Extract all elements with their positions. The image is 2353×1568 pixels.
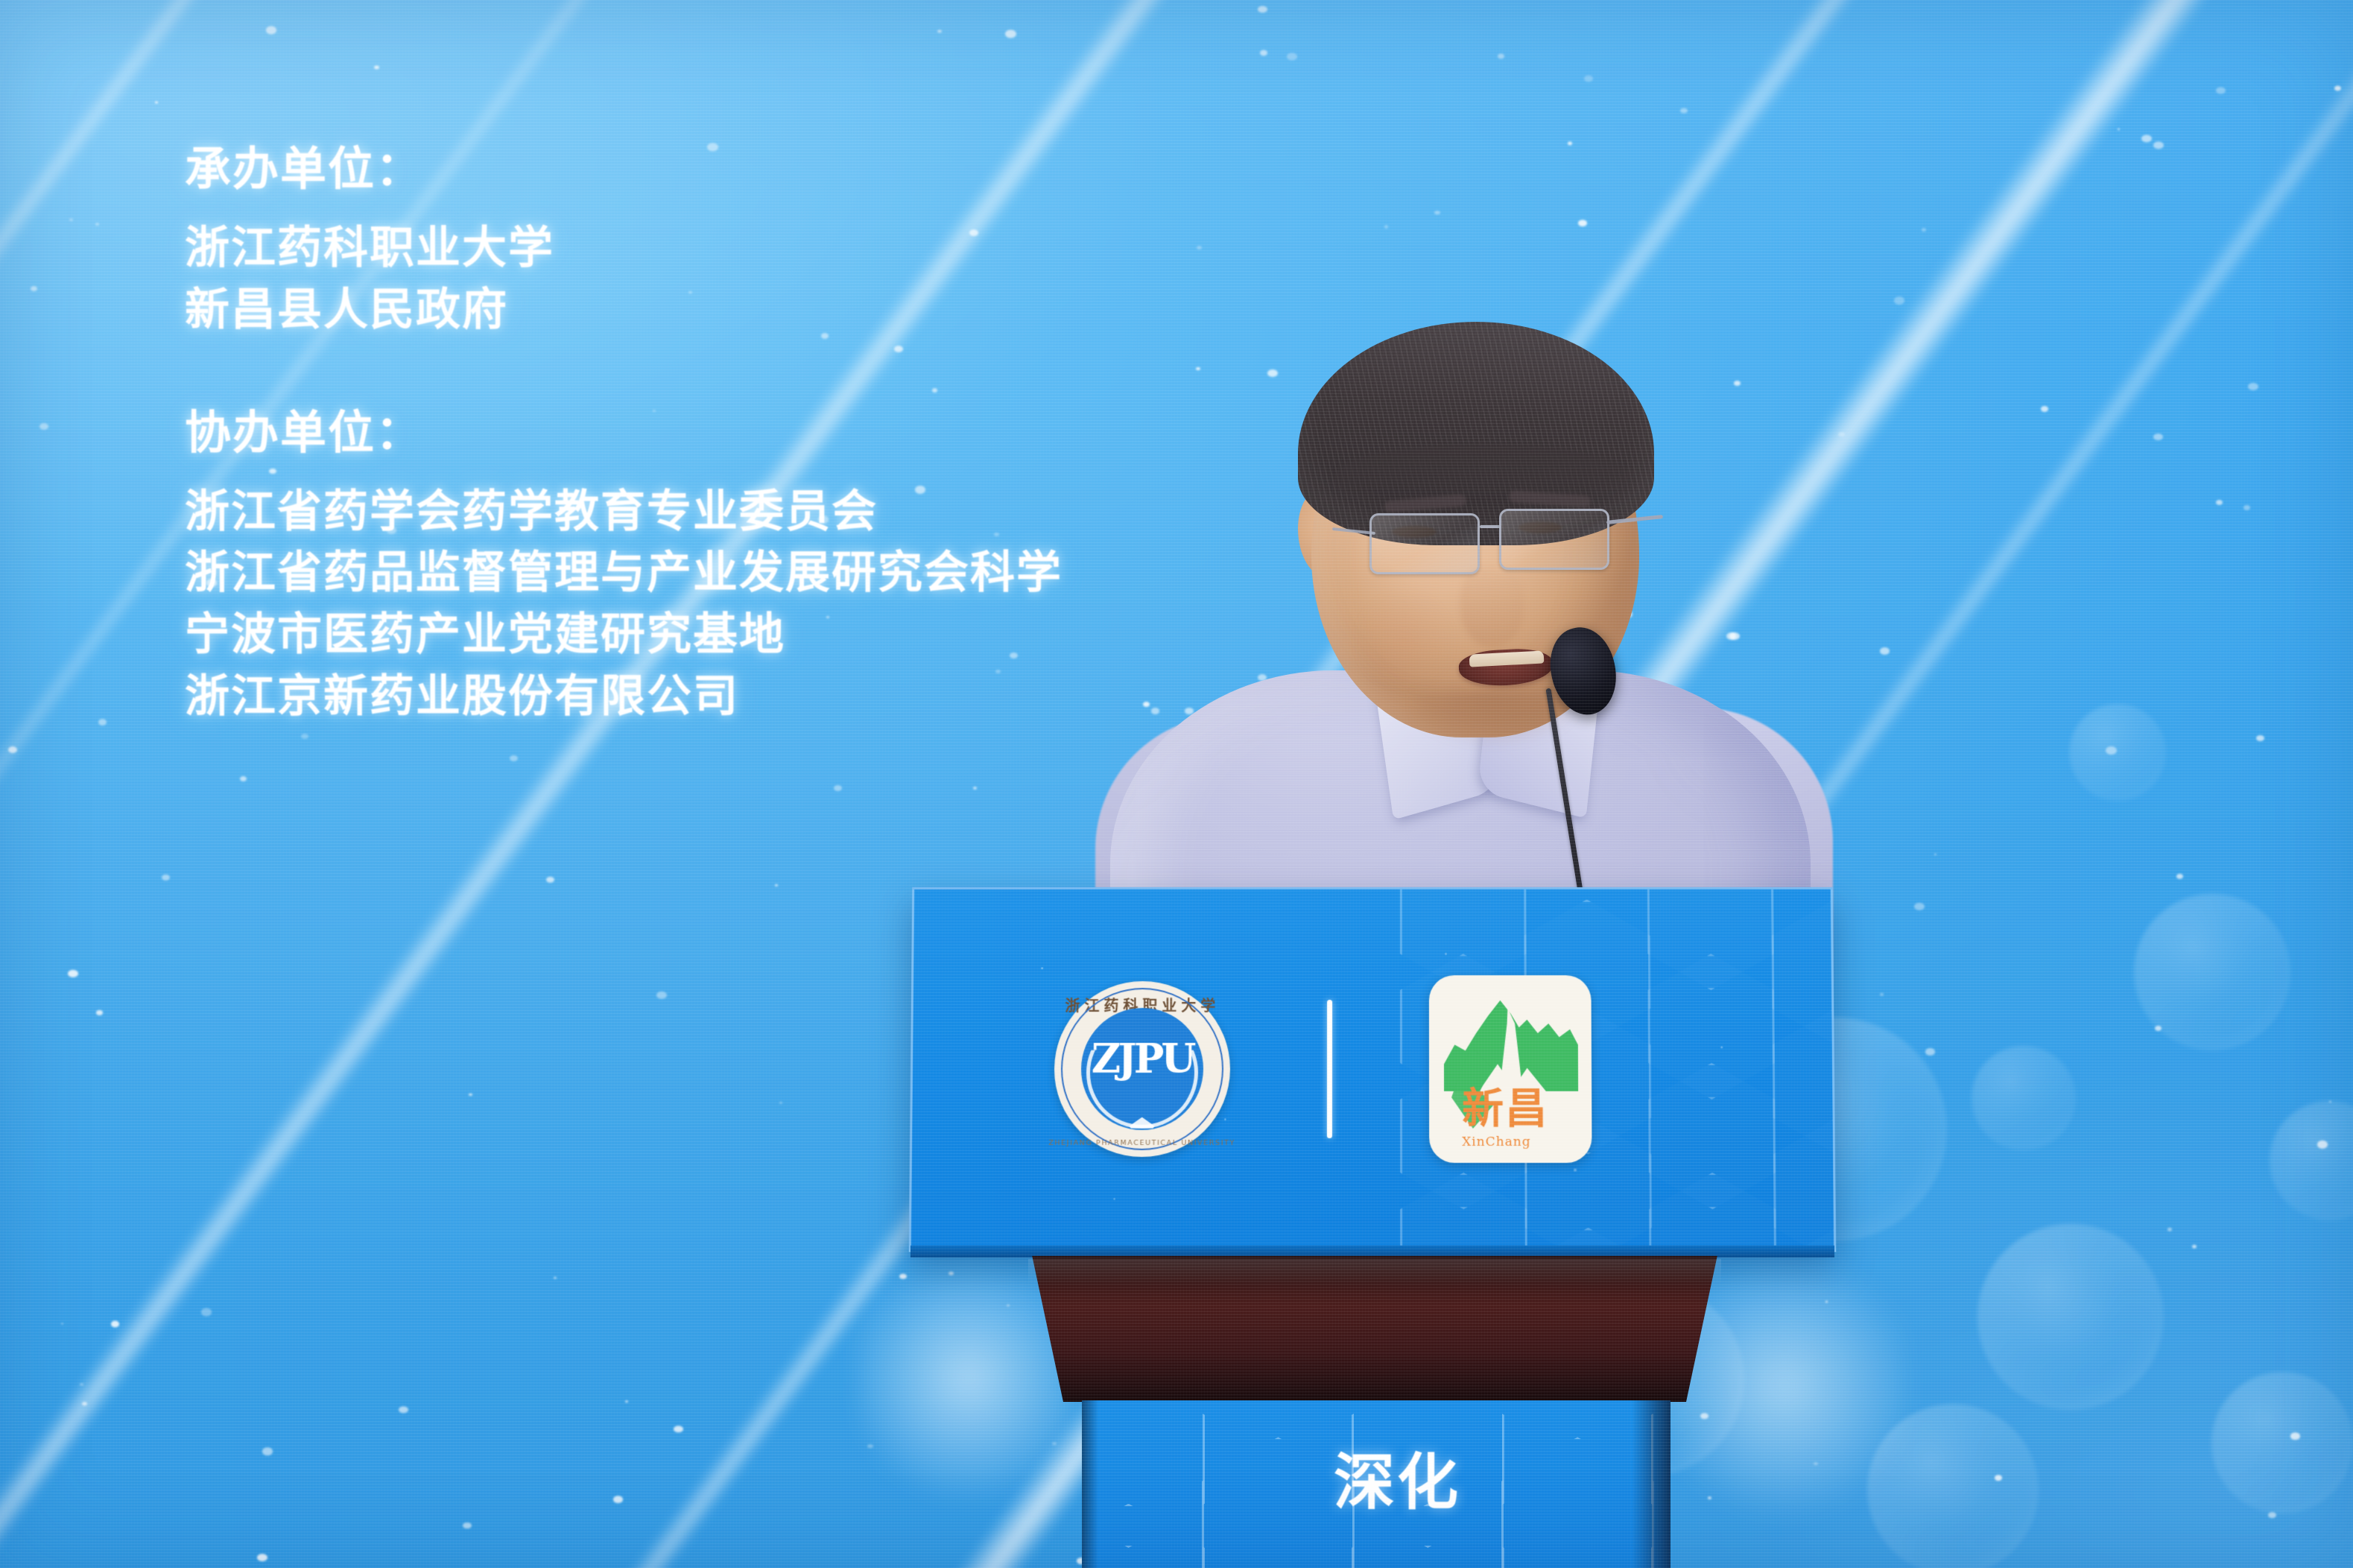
hexagon-cell-lower [1501, 1437, 1654, 1568]
lectern-shadow-right [1632, 1400, 1670, 1568]
logo-divider [1327, 1000, 1332, 1138]
xinchang-county-logo: 新昌 XinChang [1429, 975, 1592, 1163]
lectern: 浙江药科职业大学 ZJPU ZHEJIANG PHARMACEUTICAL UN… [0, 0, 2353, 1568]
hexagon-cell-lower [1202, 1437, 1355, 1568]
lectern-logo-row: 浙江药科职业大学 ZJPU ZHEJIANG PHARMACEUTICAL UN… [911, 889, 1834, 1250]
lectern-panel-edge [911, 1245, 1834, 1257]
seal-monogram: ZJPU [1092, 1035, 1194, 1082]
university-seal-logo: 浙江药科职业大学 ZJPU ZHEJIANG PHARMACEUTICAL UN… [1054, 981, 1230, 1157]
lectern-base-highlight [1028, 1259, 1721, 1286]
xinchang-chinese-label: 新昌 [1462, 1088, 1548, 1130]
lectern-shadow-left [1082, 1400, 1098, 1568]
lectern-front-panel: 浙江药科职业大学 ZJPU ZHEJIANG PHARMACEUTICAL UN… [909, 887, 1837, 1252]
xinchang-pinyin-label: XinChang [1462, 1134, 1531, 1149]
conference-photo-scene: 承办单位： 浙江药科职业大学 新昌县人民政府 协办单位： 浙江省药学会药学教育专… [0, 0, 2353, 1568]
seal-english-ring-text: ZHEJIANG PHARMACEUTICAL UNIVERSITY [1048, 1139, 1235, 1147]
lectern-banner-text: 深化 [1334, 1451, 1460, 1516]
